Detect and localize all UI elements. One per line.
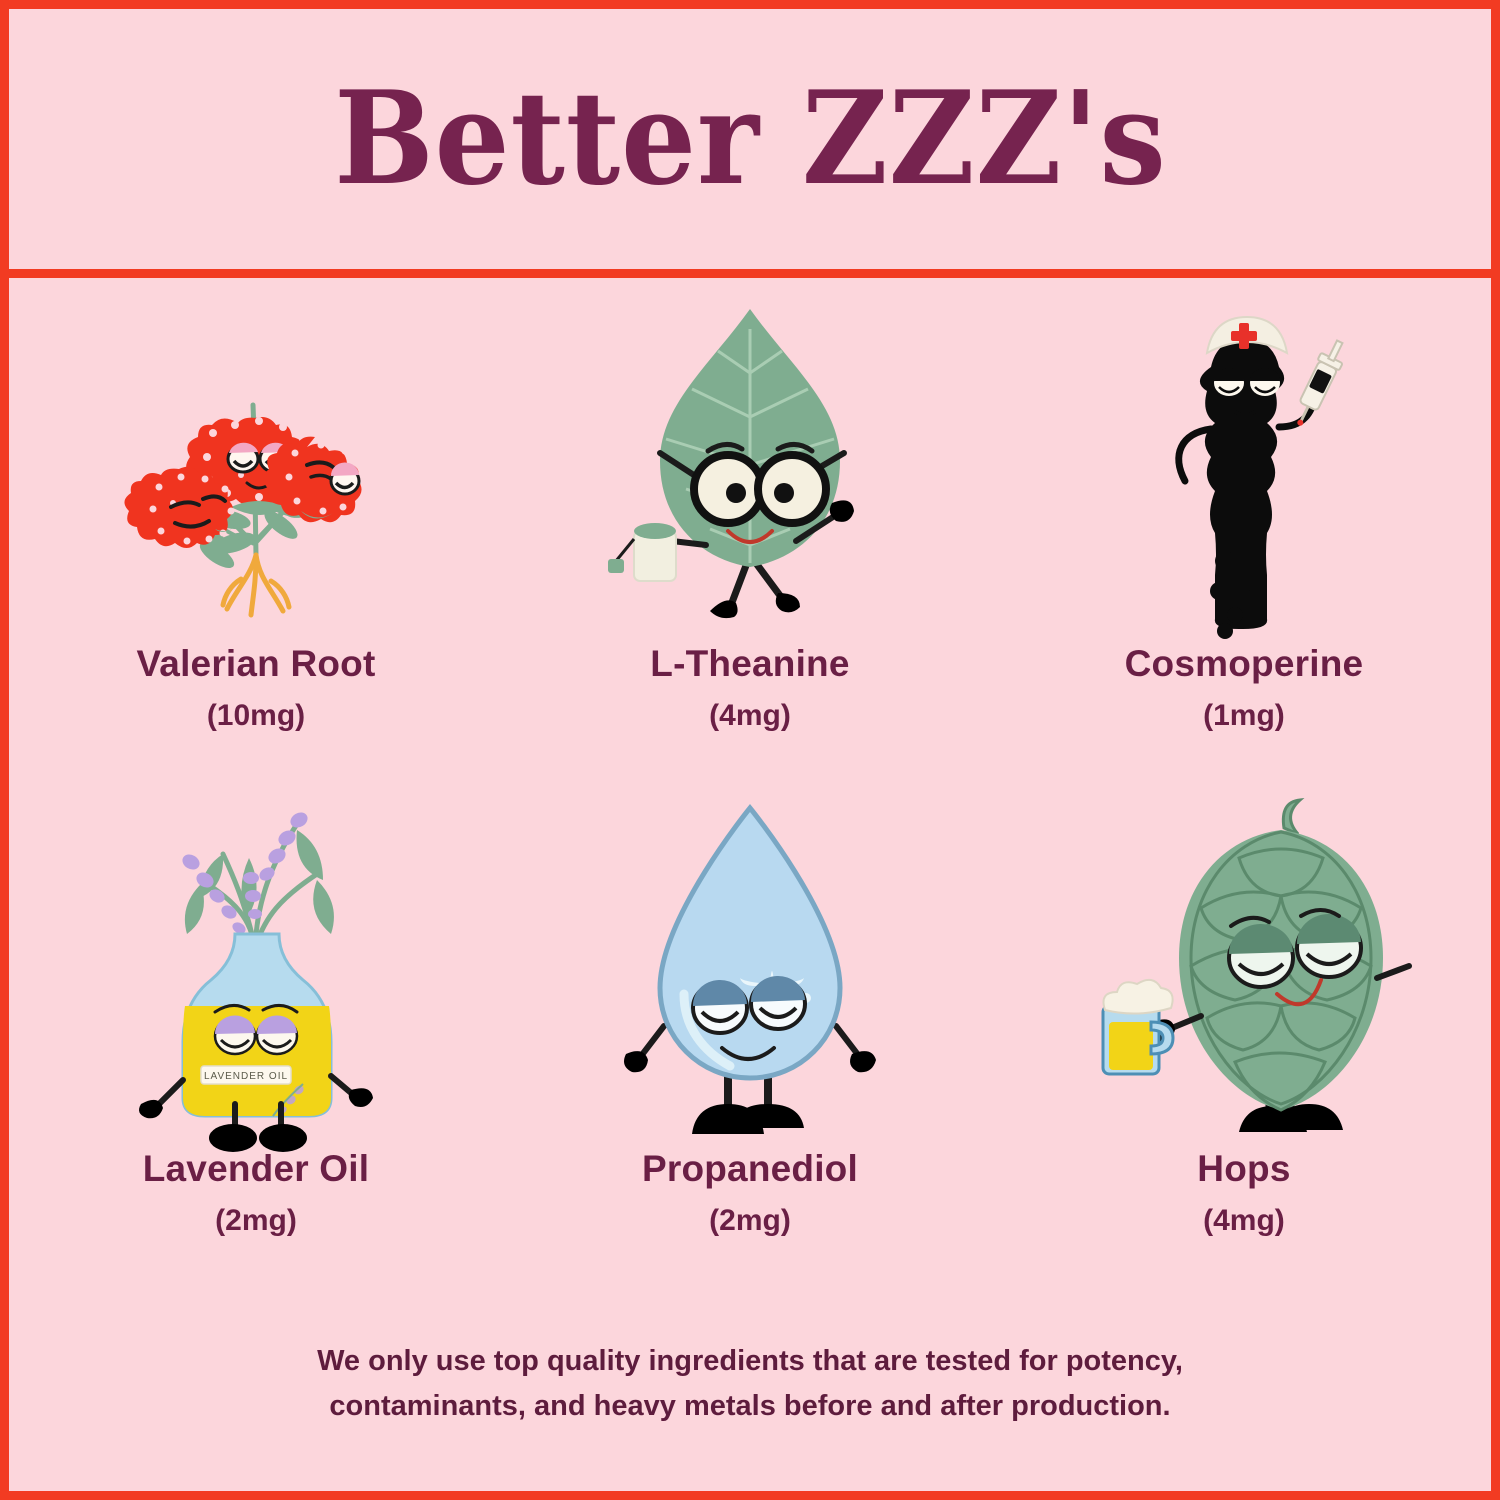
ingredient-dose: (4mg) xyxy=(1203,1204,1285,1238)
footer-disclaimer: We only use top quality ingredients that… xyxy=(9,1339,1491,1429)
footer-line-1: We only use top quality ingredients that… xyxy=(159,1339,1341,1384)
hops-cone-icon xyxy=(997,792,1491,1142)
beer-mug xyxy=(1103,980,1173,1074)
product-ingredients-poster: Better ZZZ's xyxy=(0,0,1500,1500)
ingredient-card-valerian-root[interactable]: Valerian Root (10mg) xyxy=(9,287,503,792)
valerian-root-icon xyxy=(9,287,503,637)
ingredient-dose: (2mg) xyxy=(215,1204,297,1238)
ingredient-card-cosmoperine[interactable]: Cosmoperine (1mg) xyxy=(997,287,1491,792)
syringe xyxy=(1288,337,1350,431)
ingredient-grid: Valerian Root (10mg) xyxy=(9,287,1491,1297)
tea-leaf-icon xyxy=(503,287,997,637)
ingredient-card-propanediol[interactable]: Propanediol (2mg) xyxy=(503,792,997,1297)
poster-header: Better ZZZ's xyxy=(9,9,1491,278)
ingredient-card-lavender-oil[interactable]: LAVENDER OIL xyxy=(9,792,503,1297)
ingredient-name: Lavender Oil xyxy=(143,1148,370,1190)
ingredient-dose: (10mg) xyxy=(207,699,305,733)
ingredient-name: Hops xyxy=(1197,1148,1290,1190)
ingredient-card-l-theanine[interactable]: L-Theanine (4mg) xyxy=(503,287,997,792)
ingredient-card-hops[interactable]: Hops (4mg) xyxy=(997,792,1491,1297)
ingredient-dose: (1mg) xyxy=(1203,699,1285,733)
footer-line-2: contaminants, and heavy metals before an… xyxy=(159,1384,1341,1429)
ingredient-name: Propanediol xyxy=(642,1148,858,1190)
ingredient-dose: (4mg) xyxy=(709,699,791,733)
ingredient-name: L-Theanine xyxy=(650,643,849,685)
pepper-grinder-nurse-icon xyxy=(997,287,1491,637)
water-droplet-icon xyxy=(503,792,997,1142)
tea-cup xyxy=(608,523,676,581)
page-title: Better ZZZ's xyxy=(334,75,1166,203)
bottle-label-text: LAVENDER OIL xyxy=(204,1071,288,1082)
ingredient-name: Cosmoperine xyxy=(1125,643,1364,685)
ingredient-dose: (2mg) xyxy=(709,1204,791,1238)
ingredient-name: Valerian Root xyxy=(136,643,375,685)
lavender-oil-bottle-icon: LAVENDER OIL xyxy=(9,792,503,1142)
